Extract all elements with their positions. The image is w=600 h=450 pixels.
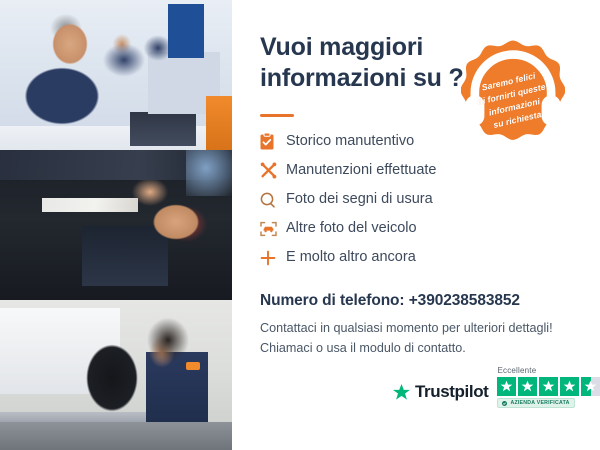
feature-item-altre-foto-veicolo: Altre foto del veicolo xyxy=(260,215,560,242)
trustpilot-rating-label: Eccellente xyxy=(497,366,536,375)
contact-line-1: Contattaci in qualsiasi momento per ulte… xyxy=(260,318,560,338)
phone-number[interactable]: +390238583852 xyxy=(409,292,520,309)
verified-check-icon xyxy=(502,401,507,406)
contact-text: Contattaci in qualsiasi momento per ulte… xyxy=(260,318,560,359)
feature-item-storico-manutentivo: Storico manutentivo xyxy=(260,128,560,155)
clipboard-check-icon xyxy=(260,133,286,150)
promo-banner: Vuoi maggiori informazioni su ? Saremo f… xyxy=(0,0,600,450)
mechanic-tire-inspection-photo xyxy=(0,300,232,450)
trustpilot-widget[interactable]: Trustpilot Eccellente xyxy=(392,366,600,408)
star-filled-3 xyxy=(539,377,558,396)
trustpilot-rating: Eccellente xyxy=(497,366,600,408)
magnifier-icon xyxy=(260,192,286,208)
vehicle-inspection-tablet-photo xyxy=(0,150,232,300)
call-center-agents-photo xyxy=(0,0,232,150)
feature-list: Storico manutentivo Manutenzioni effettu… xyxy=(260,128,560,273)
star-filled-2 xyxy=(518,377,537,396)
verified-badge-label: AZIENDA VERIFICATA xyxy=(510,400,569,406)
phone-line: Numero di telefono: +390238583852 xyxy=(260,292,580,310)
headline-line-2: informazioni su ? xyxy=(260,63,490,94)
feature-label: Manutenzioni effettuate xyxy=(286,163,436,178)
content-panel: Vuoi maggiori informazioni su ? Saremo f… xyxy=(232,0,600,450)
feature-label: Storico manutentivo xyxy=(286,134,414,149)
headline-line-1: Vuoi maggiori xyxy=(260,32,490,63)
trustpilot-stars xyxy=(497,377,600,396)
trustpilot-star-icon xyxy=(392,383,411,402)
page-title: Vuoi maggiori informazioni su ? xyxy=(260,32,490,93)
feature-label: E molto altro ancora xyxy=(286,250,416,265)
photo-column xyxy=(0,0,232,450)
tools-cross-icon xyxy=(260,162,286,179)
feature-item-manutenzioni-effettuate: Manutenzioni effettuate xyxy=(260,157,560,184)
feature-item-molto-altro-ancora: E molto altro ancora xyxy=(260,244,560,271)
car-scan-icon xyxy=(260,221,286,237)
star-partial-5 xyxy=(581,377,600,396)
plus-icon xyxy=(260,250,286,266)
phone-label: Numero di telefono: xyxy=(260,292,405,309)
trustpilot-logo: Trustpilot xyxy=(392,382,488,408)
feature-item-foto-segni-usura: Foto dei segni di usura xyxy=(260,186,560,213)
title-divider xyxy=(260,114,294,117)
verified-badge: AZIENDA VERIFICATA xyxy=(497,398,574,408)
star-filled-1 xyxy=(497,377,516,396)
trustpilot-wordmark: Trustpilot xyxy=(415,382,488,402)
feature-label: Foto dei segni di usura xyxy=(286,192,433,207)
feature-label: Altre foto del veicolo xyxy=(286,221,417,236)
contact-line-2: Chiamaci o usa il modulo di contatto. xyxy=(260,338,560,358)
star-filled-4 xyxy=(560,377,579,396)
